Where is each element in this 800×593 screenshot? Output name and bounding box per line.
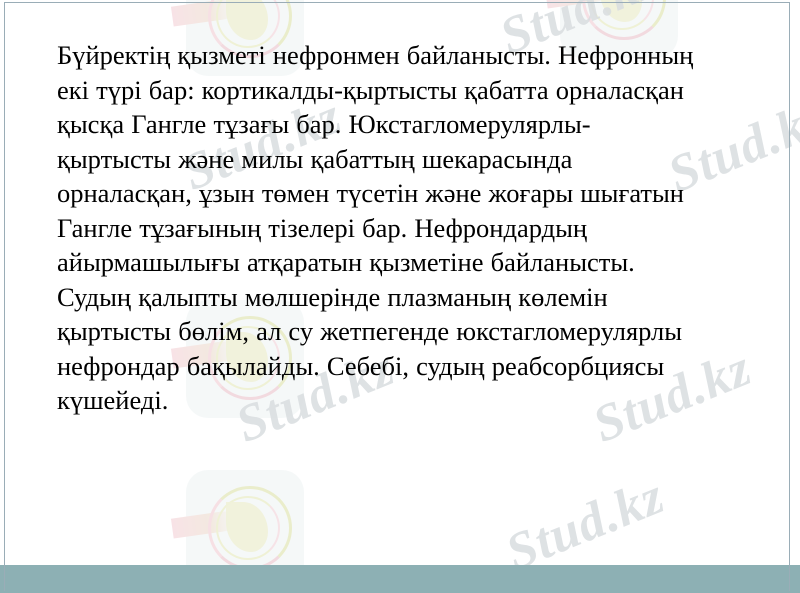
- slide-footer-bar-fill: [4, 565, 790, 593]
- slide-body-text: Бүйректің қызметі нефронмен байланысты. …: [57, 38, 697, 418]
- presentation-slide: Stud.kzStud.kzStud.kzStud.kzStud.kzStud.…: [0, 0, 800, 593]
- slide-footer-bar: [0, 565, 800, 593]
